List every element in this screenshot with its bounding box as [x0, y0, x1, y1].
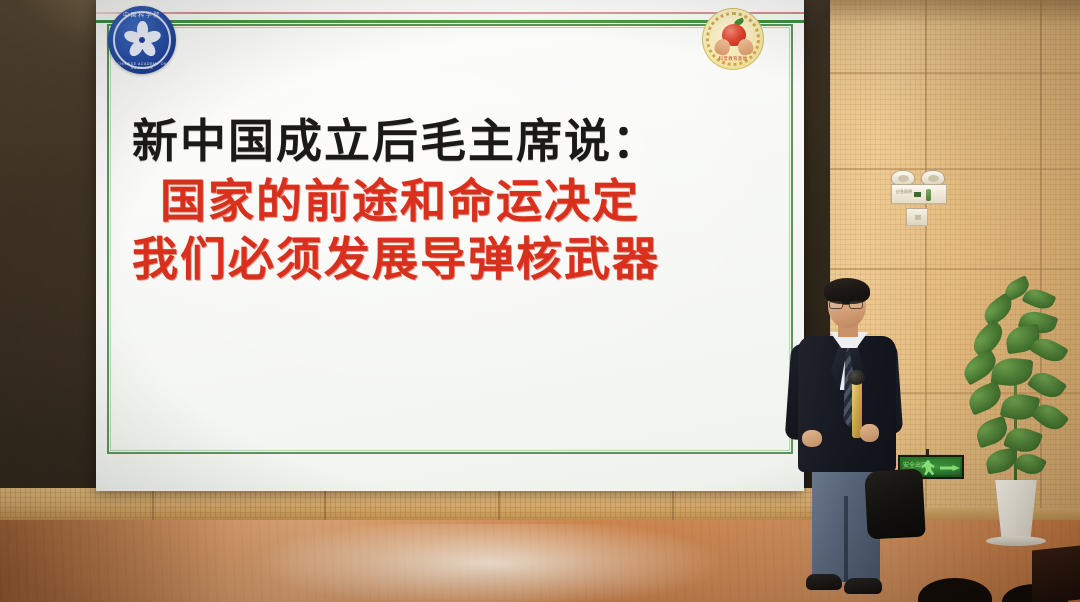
wall-socket: [906, 208, 928, 226]
wall-panel-seam: [830, 72, 1080, 74]
wall-panel-seam: [830, 268, 1080, 270]
trouser-seam: [844, 496, 848, 582]
microphone-head: [848, 370, 865, 385]
emergency-light: 应急照明: [891, 170, 949, 204]
shoe: [806, 574, 842, 590]
emergency-light-body: 应急照明: [891, 184, 947, 204]
baseboard-seam: [152, 488, 154, 520]
floor-bag: [864, 469, 925, 540]
floor-shadow: [0, 520, 230, 602]
speaker-presenter: [786, 282, 906, 602]
slide-line-3: 我们必须发展导弹核武器: [132, 236, 776, 282]
logo-flower-icon: [122, 20, 162, 60]
foreground-object: [1032, 545, 1080, 602]
wall-top-shadow: [830, 0, 1080, 26]
lecture-hall-photo: 新中国成立后毛主席说： 国家的前途和命运决定 我们必须发展导弹核武器 中国科学院…: [0, 0, 1080, 602]
left-hand: [802, 430, 822, 447]
right-hand-holding-mic: [860, 424, 879, 442]
leaf-icon: [984, 448, 1017, 475]
plant-saucer: [986, 536, 1046, 546]
slide-text-block: 新中国成立后毛主席说： 国家的前途和命运决定 我们必须发展导弹核武器: [126, 118, 776, 282]
baseboard-perforation: [0, 488, 830, 518]
plant-pot: [990, 480, 1042, 538]
baseboard-seam: [324, 488, 326, 520]
logo-bottom-text: CHINESE ACADEMY OF SCIENCES: [108, 62, 176, 70]
slide-line-2: 国家的前途和命运决定: [160, 178, 776, 224]
floor-light-reflection: [210, 524, 770, 602]
projection-screen: 新中国成立后毛主席说： 国家的前途和命运决定 我们必须发展导弹核武器: [96, 0, 804, 491]
battery-indicator: [926, 189, 931, 201]
potted-plant: [958, 278, 1076, 548]
leaf-icon: [965, 381, 1006, 416]
eyeglasses-icon: [829, 301, 866, 309]
chinese-academy-of-sciences-logo: 中国科学院 CHINESE ACADEMY OF SCIENCES: [108, 6, 176, 74]
led-indicator: [914, 192, 921, 197]
apple-in-hands-logo: 科普教育基地: [702, 8, 764, 70]
wall-panel-seam: [925, 0, 927, 520]
logo-top-text: 中国科学院: [108, 10, 176, 19]
slide-rule-pink: [96, 12, 804, 14]
wall-panel-seam: [830, 168, 1080, 170]
baseboard-seam: [672, 488, 674, 520]
slide-line-1: 新中国成立后毛主席说：: [132, 118, 776, 164]
shoe: [844, 578, 882, 594]
slide-rule-green: [96, 20, 804, 23]
baseboard-seam: [498, 488, 500, 520]
leaf-icon: [1013, 449, 1047, 479]
emergency-light-label: 应急照明: [896, 189, 912, 195]
logo-label: 科普教育基地: [703, 56, 763, 62]
